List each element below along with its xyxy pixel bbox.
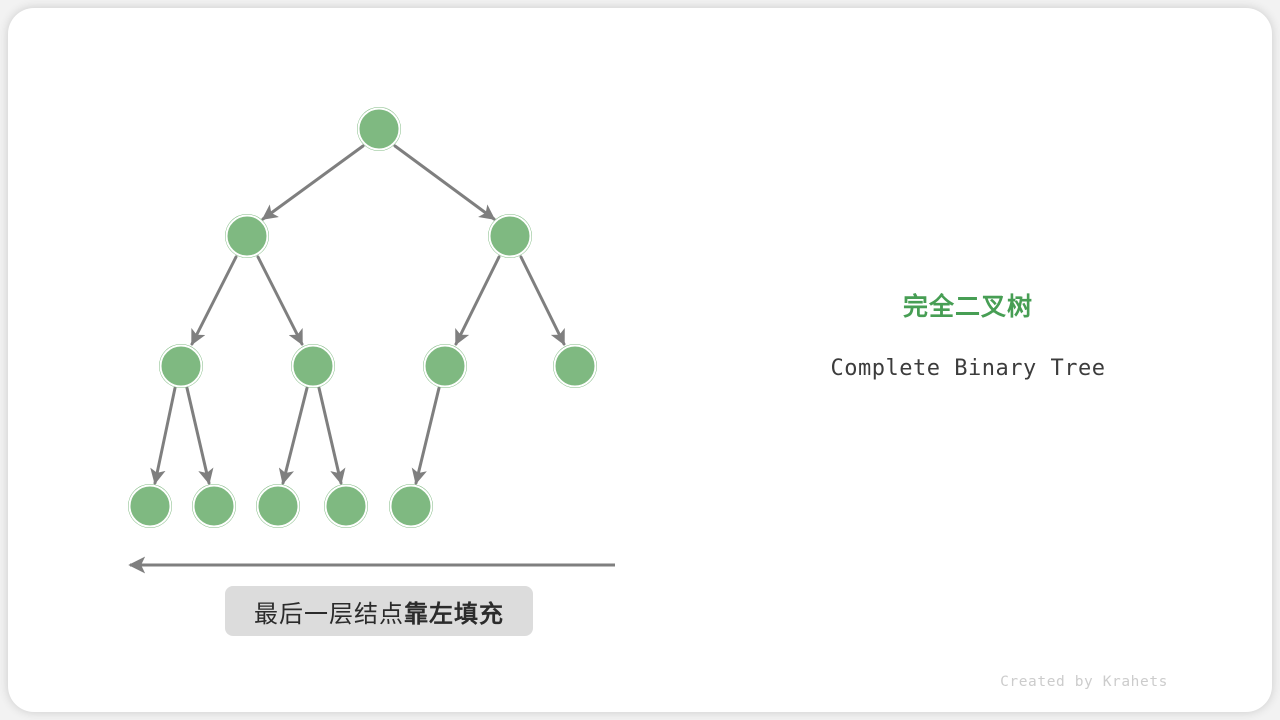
legend-title-en: Complete Binary Tree — [768, 356, 1168, 381]
tree-node-n12 — [389, 484, 433, 528]
caption-text-plain: 最后一层结点 — [254, 594, 404, 629]
edge-n5-n11 — [319, 388, 341, 483]
edge-n3-n6 — [456, 257, 499, 344]
tree-node-n11 — [324, 484, 368, 528]
tree-node-n3 — [488, 214, 532, 258]
tree-node-n8 — [128, 484, 172, 528]
legend-title-cn: 完全二叉树 — [768, 292, 1168, 322]
caption-text-bold: 靠左填充 — [404, 594, 504, 629]
tree-node-n10 — [256, 484, 300, 528]
tree-node-n9 — [192, 484, 236, 528]
tree-edges — [155, 146, 564, 483]
legend-block: 完全二叉树 Complete Binary Tree — [768, 292, 1168, 381]
edge-n3-n7 — [521, 257, 564, 344]
edge-n1-n2 — [263, 146, 363, 219]
edge-n2-n4 — [192, 257, 236, 344]
edge-n2-n5 — [258, 257, 302, 344]
edge-n4-n9 — [187, 388, 209, 483]
caption-badge: 最后一层结点靠左填充 — [225, 586, 533, 636]
tree-node-n1 — [357, 107, 401, 151]
tree-nodes — [128, 107, 597, 528]
tree-node-n4 — [159, 344, 203, 388]
tree-node-n6 — [423, 344, 467, 388]
edge-n6-n12 — [416, 388, 439, 483]
tree-node-n2 — [225, 214, 269, 258]
diagram-canvas: 完全二叉树 Complete Binary Tree 最后一层结点靠左填充 Cr… — [0, 0, 1280, 720]
edge-n1-n3 — [395, 146, 494, 219]
tree-node-n5 — [291, 344, 335, 388]
edge-n4-n8 — [155, 388, 175, 483]
edge-n5-n10 — [283, 388, 307, 483]
footer-credit: Created by Krahets — [878, 674, 1168, 690]
tree-node-n7 — [553, 344, 597, 388]
